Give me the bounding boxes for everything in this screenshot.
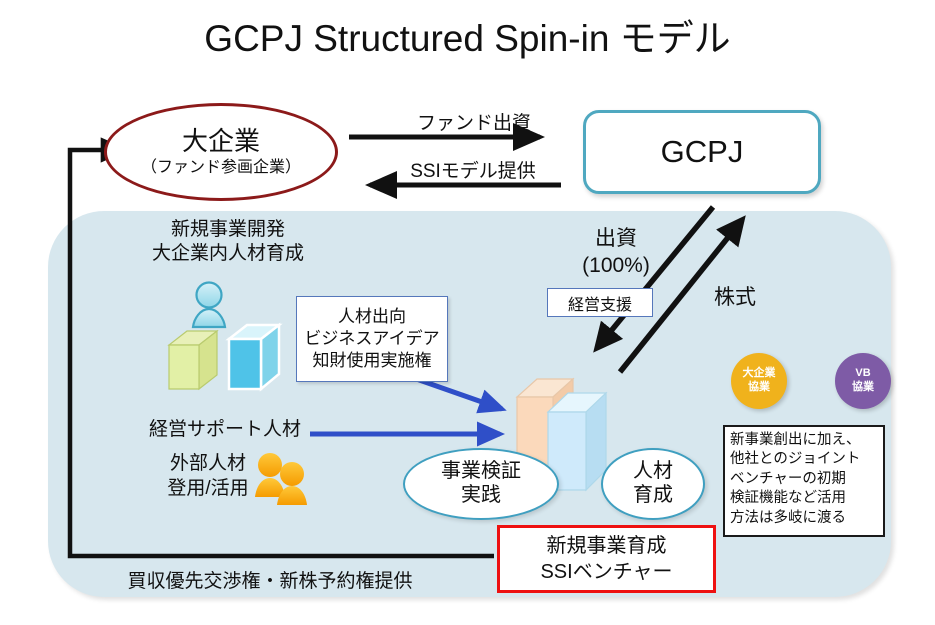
badge-vb-line1: VB bbox=[855, 367, 870, 381]
badge-vb-line2: 協業 bbox=[852, 381, 874, 395]
note-line2: 他社とのジョイント bbox=[730, 450, 878, 469]
develop-line2: 育成 bbox=[633, 484, 673, 508]
verify-line1: 事業検証 bbox=[441, 460, 521, 484]
talent-transfer-box[interactable]: 人材出向 ビジネスアイデア 知財使用実施権 bbox=[296, 296, 448, 382]
diagram-canvas: GCPJ Structured Spin-in モデル bbox=[0, 0, 935, 625]
ssi-venture-box[interactable]: 新規事業育成 SSIベンチャー bbox=[497, 525, 716, 593]
large-corporation-sublabel: （ファンド参画企業） bbox=[141, 158, 301, 177]
note-line4: 検証機能など活用 bbox=[730, 489, 878, 508]
badge-corp-line2: 協業 bbox=[748, 381, 770, 395]
ssi-line2: SSIベンチャー bbox=[540, 559, 672, 585]
investment-label: 出資 (100%) bbox=[556, 225, 676, 280]
ssi-model-label: SSIモデル提供 bbox=[378, 156, 568, 183]
support-talent-label: 経営サポート人材 bbox=[100, 418, 350, 443]
note-line1: 新事業創出に加え、 bbox=[730, 431, 878, 450]
large-corporation-node[interactable]: 大企業 （ファンド参画企業） bbox=[104, 103, 338, 201]
talent-line1: 人材出向 bbox=[338, 306, 406, 328]
business-verification-oval[interactable]: 事業検証 実践 bbox=[403, 448, 559, 520]
management-support-box[interactable]: 経営支援 bbox=[547, 288, 653, 317]
note-box[interactable]: 新事業創出に加え、 他社とのジョイント ベンチャーの初期 検証機能など活用 方法… bbox=[723, 425, 885, 537]
note-line3: ベンチャーの初期 bbox=[730, 470, 878, 489]
new-business-text: 新規事業開発 大企業内人材育成 bbox=[108, 218, 348, 267]
fund-investment-label: ファンド出資 bbox=[384, 108, 564, 135]
large-corporation-label: 大企業 bbox=[182, 127, 260, 156]
talent-development-oval[interactable]: 人材 育成 bbox=[601, 448, 705, 520]
equity-label: 株式 bbox=[700, 281, 770, 311]
investment-line2: (100%) bbox=[556, 252, 676, 279]
management-support-label: 経営支援 bbox=[568, 291, 632, 315]
gcpj-label: GCPJ bbox=[661, 134, 744, 170]
cube-icon bbox=[224, 322, 286, 396]
badge-corp-line1: 大企業 bbox=[743, 367, 776, 381]
acquisition-rights-label: 買収優先交渉権・新株予約権提供 bbox=[100, 566, 440, 593]
badge-corporate-collab[interactable]: 大企業 協業 bbox=[731, 353, 787, 409]
note-line5: 方法は多岐に渡る bbox=[730, 509, 878, 528]
page-title: GCPJ Structured Spin-in モデル bbox=[0, 8, 935, 62]
people-icon bbox=[250, 452, 312, 508]
investment-line1: 出資 bbox=[556, 225, 676, 252]
develop-line1: 人材 bbox=[633, 460, 673, 484]
gcpj-node[interactable]: GCPJ bbox=[583, 110, 821, 194]
verify-line2: 実践 bbox=[461, 484, 501, 508]
talent-line2: ビジネスアイデア bbox=[304, 328, 439, 350]
ssi-line1: 新規事業育成 bbox=[547, 533, 667, 559]
talent-line3: 知財使用実施権 bbox=[313, 350, 432, 372]
cube-icon bbox=[165, 327, 223, 395]
new-business-line1: 新規事業開発 bbox=[108, 218, 348, 242]
badge-vb-collab[interactable]: VB 協業 bbox=[835, 353, 891, 409]
new-business-line2: 大企業内人材育成 bbox=[108, 242, 348, 266]
